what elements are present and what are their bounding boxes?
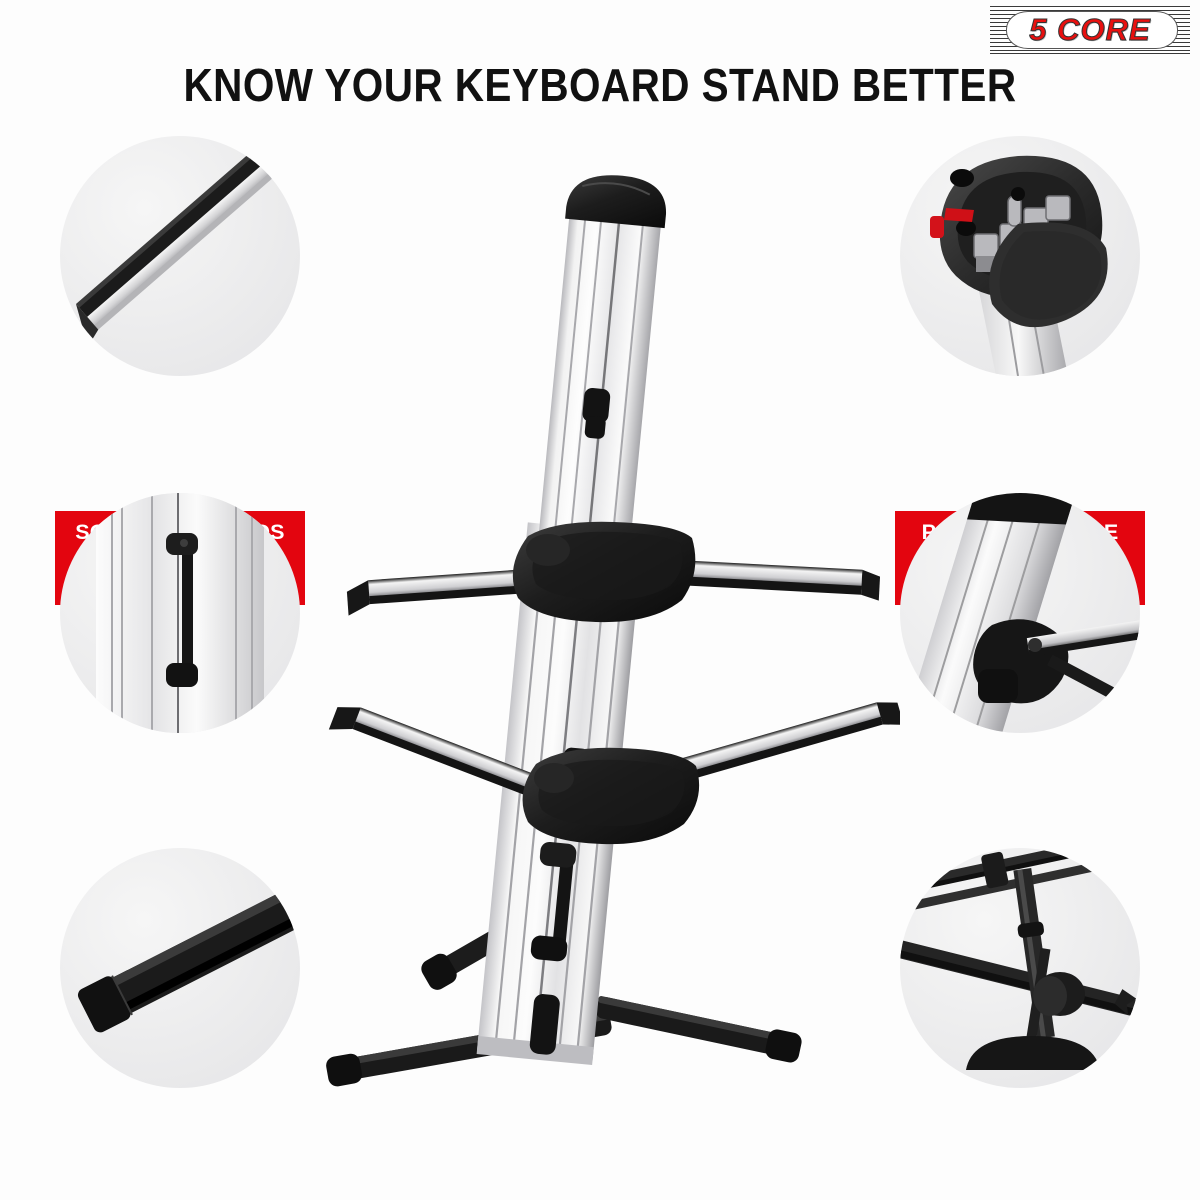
feature-soft-pad: SOFT PAD SHIELDS KEYBOARD FROM SCRATCH bbox=[55, 136, 305, 376]
top-attachment-photo bbox=[900, 848, 1140, 1088]
rubber-end-cap-photo bbox=[60, 848, 300, 1088]
five-core-logo: 5 CORE bbox=[990, 6, 1190, 54]
feature-top-attachment: TOP ATTACHMENT WITH MUSIC SHEET STAND & … bbox=[895, 848, 1145, 1088]
keyboard-stand-product-image bbox=[300, 150, 900, 1150]
feature-adjustable-arm: REMOVABLE AND ADJUSTABLE ARM bbox=[895, 493, 1145, 733]
feature-rubber-end-caps: RUBBER END CAPS FOR STABILITY bbox=[55, 848, 305, 1088]
logo-text: 5 CORE bbox=[990, 6, 1190, 54]
soft-pad-rail-photo bbox=[60, 136, 300, 376]
upper-arm-assembly bbox=[346, 522, 880, 622]
feature-pop-up-storage: POP-UP STORAGE SPACE FOR STAND ARMS bbox=[895, 136, 1145, 376]
adjustable-arm-photo bbox=[900, 493, 1140, 733]
carry-handle-photo bbox=[60, 493, 300, 733]
pop-up-storage-photo bbox=[900, 136, 1140, 376]
page-title: KNOW YOUR KEYBOARD STAND BETTER bbox=[72, 58, 1128, 112]
infographic-page: 5 CORE KNOW YOUR KEYBOARD STAND BETTER bbox=[0, 0, 1200, 1200]
feature-carry-handle: CARRY HANDLE FOR EASY PORTABILITY bbox=[55, 493, 305, 733]
